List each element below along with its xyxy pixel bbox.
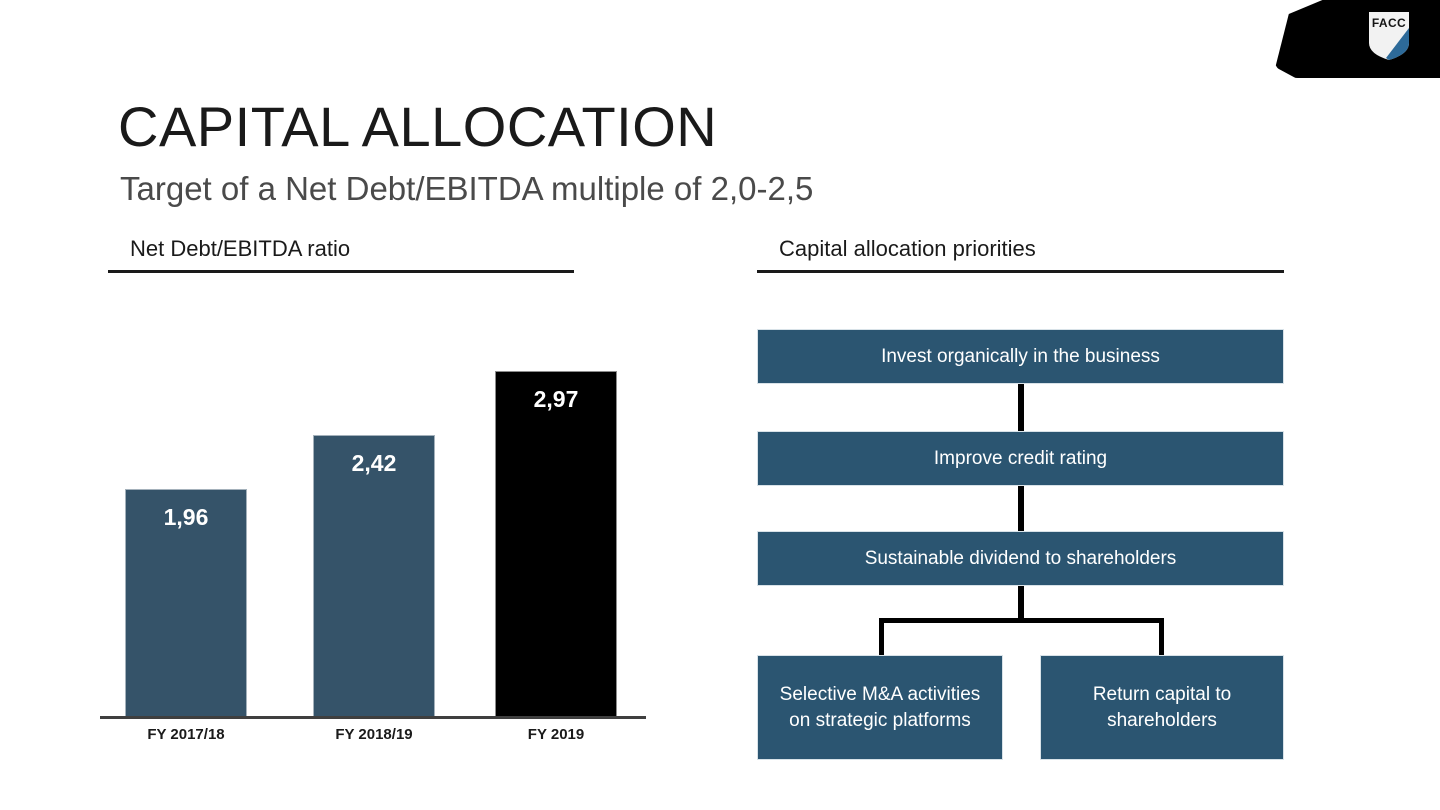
flow-node-label: Sustainable dividend to shareholders (865, 546, 1177, 572)
bar-group-1: 2,42 (313, 435, 435, 718)
capital-allocation-flowchart: Invest organically in the business Impro… (757, 329, 1284, 769)
bar-value-label: 2,97 (496, 386, 616, 413)
flow-node-credit-rating: Improve credit rating (757, 431, 1284, 486)
net-debt-ebitda-bar-chart: 1,96 2,42 2,97 FY 2017/18 FY 2018/19 FY … (100, 330, 648, 760)
brand-corner-shape (1272, 0, 1440, 78)
page-title: CAPITAL ALLOCATION (118, 96, 717, 158)
flow-node-label: Invest organically in the business (881, 344, 1160, 370)
bar-value-label: 2,42 (314, 450, 434, 477)
chart-x-axis (100, 716, 646, 719)
bar-group-2: 2,97 (495, 371, 617, 718)
flow-node-label: Improve credit rating (934, 446, 1107, 472)
facc-logo: FACC (1366, 10, 1412, 62)
flow-node-selective-mna: Selective M&A activities on strategic pl… (757, 655, 1003, 760)
section-heading-chart: Net Debt/EBITDA ratio (130, 236, 574, 262)
section-net-debt-ebitda: Net Debt/EBITDA ratio (108, 236, 574, 273)
flow-node-return-capital: Return capital to shareholders (1040, 655, 1284, 760)
connector-branch-horizontal (879, 618, 1164, 623)
flow-node-label: Return capital to shareholders (1051, 682, 1273, 734)
connector-dividend-stem (1018, 586, 1024, 620)
connector-invest-to-credit (1018, 384, 1024, 431)
connector-branch-left (879, 618, 884, 655)
connector-branch-right (1159, 618, 1164, 655)
section-rule-priorities (757, 270, 1284, 273)
flow-node-label: Selective M&A activities on strategic pl… (768, 682, 992, 734)
facc-logo-text: FACC (1372, 16, 1406, 30)
bar-value-label: 1,96 (126, 504, 246, 531)
bar-fy-2017-18: 1,96 (125, 489, 247, 718)
bar-group-0: 1,96 (125, 489, 247, 718)
flow-node-invest: Invest organically in the business (757, 329, 1284, 384)
bar-fy-2018-19: 2,42 (313, 435, 435, 718)
section-rule-chart (108, 270, 574, 273)
section-capital-allocation-priorities: Capital allocation priorities (757, 236, 1284, 273)
chart-category-labels: FY 2017/18 FY 2018/19 FY 2019 (100, 726, 646, 756)
page-subtitle: Target of a Net Debt/EBITDA multiple of … (120, 168, 813, 210)
category-label-1: FY 2018/19 (313, 726, 435, 743)
connector-credit-to-dividend (1018, 486, 1024, 531)
category-label-0: FY 2017/18 (125, 726, 247, 743)
bar-fy-2019: 2,97 (495, 371, 617, 718)
category-label-2: FY 2019 (495, 726, 617, 743)
brand-corner: FACC (1272, 0, 1440, 78)
chart-plot-area: 1,96 2,42 2,97 (100, 330, 648, 718)
section-heading-priorities: Capital allocation priorities (779, 236, 1284, 262)
flow-node-dividend: Sustainable dividend to shareholders (757, 531, 1284, 586)
